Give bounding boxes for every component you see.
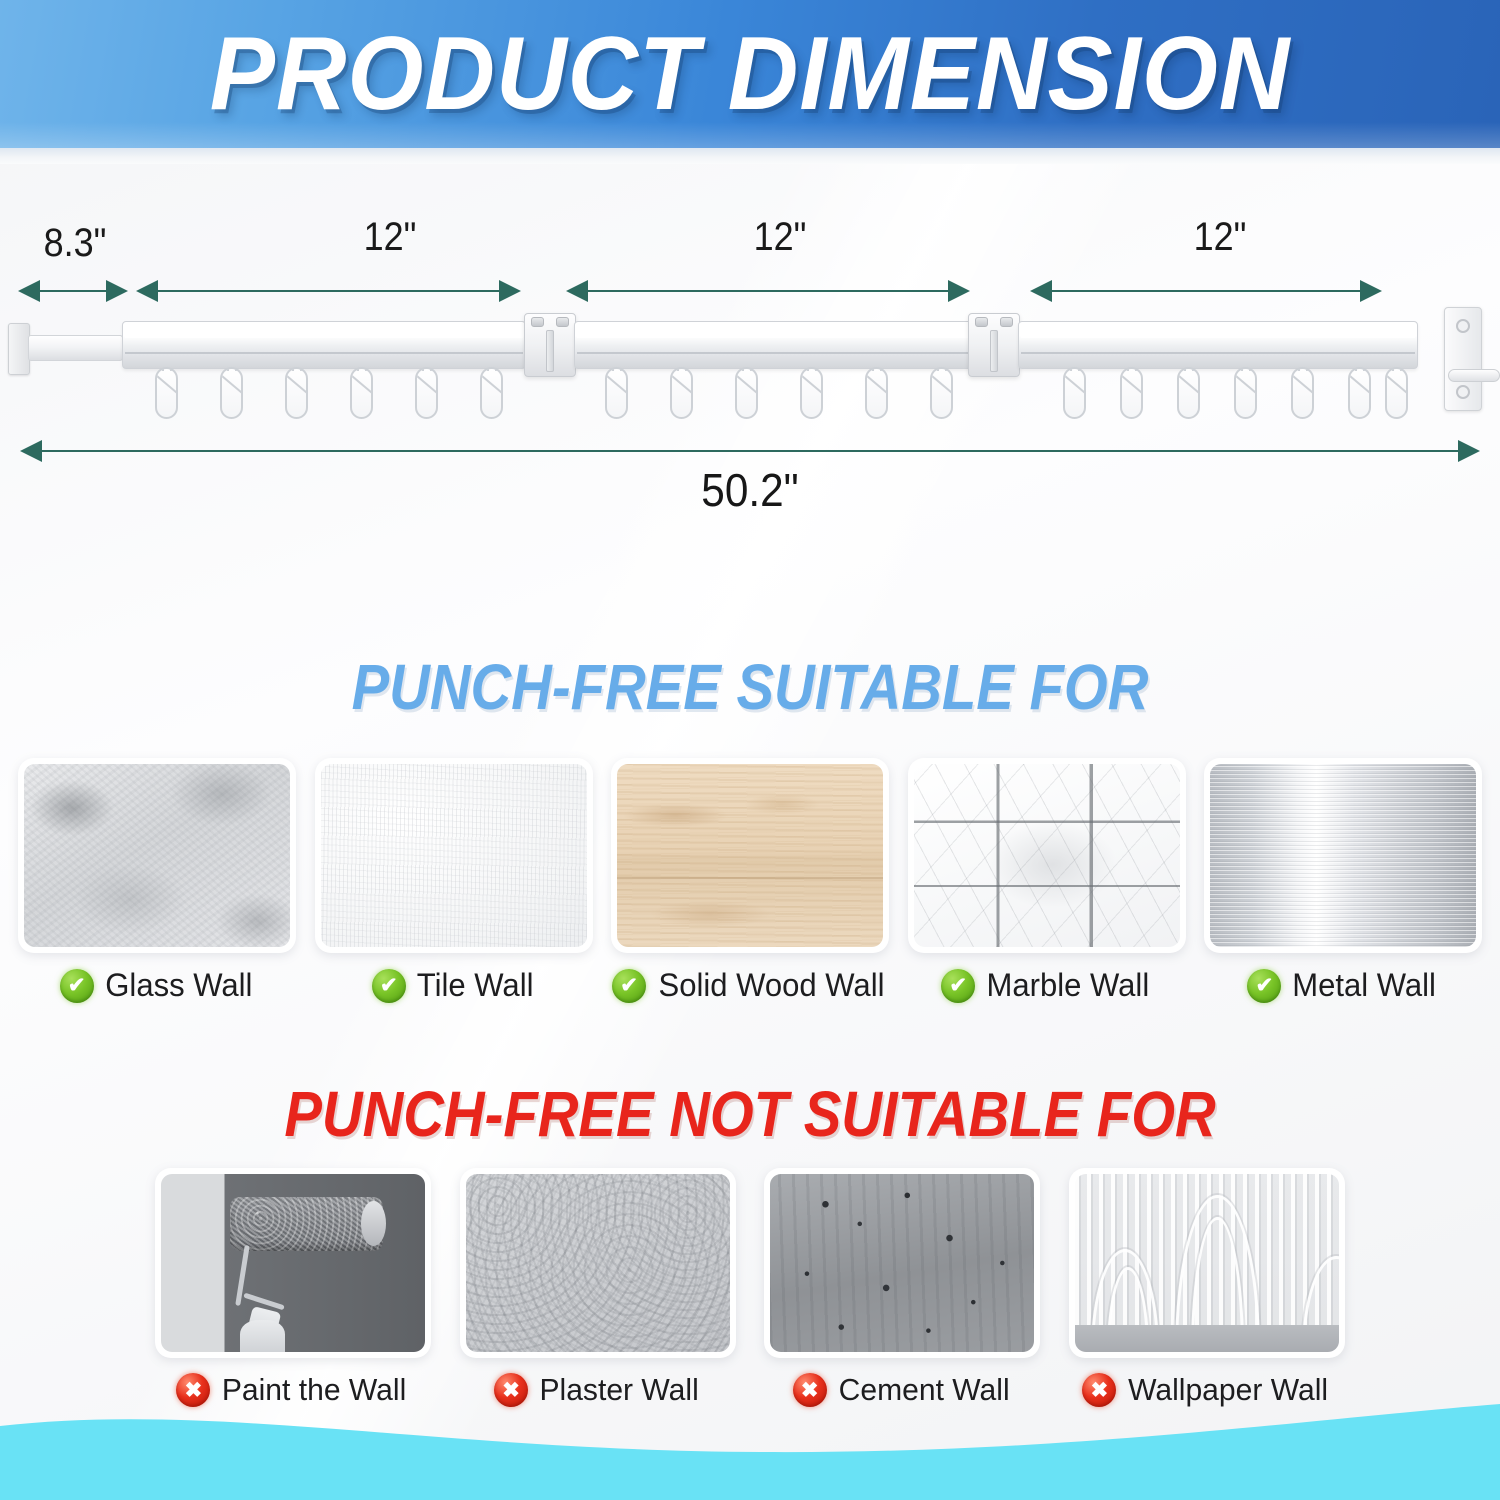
- material-card-wallpaper[interactable]: ✖ Wallpaper Wall: [1069, 1168, 1345, 1408]
- curtain-hook: [735, 367, 758, 419]
- connector-spine: [546, 330, 554, 372]
- material-label: Metal Wall: [1293, 967, 1437, 1004]
- screw-hole-icon: [1456, 385, 1470, 399]
- hook-stem: [1392, 367, 1402, 371]
- arrow-head-right-icon: [1360, 280, 1382, 302]
- curtain-hook: [800, 367, 823, 419]
- check-icon: ✔: [60, 969, 94, 1003]
- material-label: Tile Wall: [417, 967, 534, 1004]
- curtain-hook: [1234, 367, 1257, 419]
- hook-group-2: [605, 367, 965, 423]
- arrow-head-right-icon: [499, 280, 521, 302]
- hook-stem: [1070, 367, 1080, 371]
- curtain-hook: [1063, 367, 1086, 419]
- material-card-solid-wood[interactable]: ✔ Solid Wood Wall: [611, 758, 889, 1004]
- curtain-track-rail: [0, 305, 1500, 425]
- wallpaper-floor-strip: [1075, 1325, 1339, 1352]
- hook-stem: [1184, 367, 1194, 371]
- dimension-arrow-0: [18, 280, 128, 302]
- dimension-diagram: 8.3" 12" 12" 12": [0, 185, 1500, 545]
- screw-icon: [531, 317, 544, 327]
- swatch-paint: [155, 1168, 431, 1358]
- glass-texture: [24, 764, 290, 947]
- hook-stem: [227, 367, 237, 371]
- screw-icon: [556, 317, 569, 327]
- not-suitable-heading: PUNCH-FREE NOT SUITABLE FOR: [90, 1077, 1410, 1151]
- not-suitable-materials-row: ✖ Paint the Wall ✖ Plaster Wall ✖ Cement…: [155, 1168, 1345, 1408]
- hook-stem: [1241, 367, 1251, 371]
- hook-stem: [677, 367, 687, 371]
- material-card-plaster[interactable]: ✖ Plaster Wall: [460, 1168, 736, 1408]
- material-card-paint[interactable]: ✖ Paint the Wall: [155, 1168, 431, 1408]
- dimension-label-0: 8.3": [26, 221, 125, 266]
- caption-glass: ✔ Glass Wall: [60, 967, 255, 1004]
- material-label: Glass Wall: [105, 967, 252, 1004]
- hook-stem: [807, 367, 817, 371]
- arrow-line: [1042, 290, 1370, 292]
- hook-stem: [937, 367, 947, 371]
- dimension-arrow-1: [136, 280, 521, 302]
- rail-connector-2: [968, 313, 1020, 377]
- curtain-hook: [285, 367, 308, 419]
- total-dimension-label: 50.2": [60, 463, 1440, 517]
- total-dimension-arrow: [20, 440, 1480, 462]
- paint-roller-photo: [161, 1174, 425, 1352]
- screw-hole-icon: [1456, 319, 1470, 333]
- caption-metal: ✔ Metal Wall: [1247, 967, 1438, 1004]
- material-card-cement[interactable]: ✖ Cement Wall: [764, 1168, 1040, 1408]
- rail-connector-1: [524, 313, 576, 377]
- arrow-line: [578, 290, 958, 292]
- hook-group-1: [155, 367, 515, 423]
- rail-segment-1: [122, 321, 526, 369]
- wood-texture: [617, 764, 883, 947]
- arrow-head-right-icon: [1458, 440, 1480, 462]
- suitable-heading: PUNCH-FREE SUITABLE FOR: [90, 650, 1410, 724]
- material-card-tile[interactable]: ✔ Tile Wall: [315, 758, 593, 1004]
- dimension-label-3: 12": [1040, 215, 1400, 260]
- extension-arm: [28, 335, 123, 361]
- footer-wave: [0, 1380, 1500, 1500]
- hook-stem: [162, 367, 172, 371]
- arrow-line: [30, 290, 116, 292]
- hook-stem: [1355, 367, 1365, 371]
- caption-tile: ✔ Tile Wall: [372, 967, 535, 1004]
- material-label: Marble Wall: [987, 967, 1150, 1004]
- hook-stem: [292, 367, 302, 371]
- curtain-hook: [1385, 367, 1408, 419]
- swatch-wallpaper: [1069, 1168, 1345, 1358]
- infographic-page: PRODUCT DIMENSION 8.3" 12" 12" 12": [0, 0, 1500, 1500]
- material-card-metal[interactable]: ✔ Metal Wall: [1204, 758, 1482, 1004]
- swatch-tile: [315, 758, 593, 953]
- connector-spine: [990, 330, 998, 372]
- caption-marble: ✔ Marble Wall: [941, 967, 1152, 1004]
- arrow-head-right-icon: [106, 280, 128, 302]
- cement-texture: [770, 1174, 1034, 1352]
- curtain-hook: [930, 367, 953, 419]
- page-title: PRODUCT DIMENSION: [45, 10, 1455, 138]
- wave-shape-icon: [0, 1380, 1500, 1500]
- hook-stem: [487, 367, 497, 371]
- dimension-arrow-2: [566, 280, 970, 302]
- material-card-glass[interactable]: ✔ Glass Wall: [18, 758, 296, 1004]
- material-card-marble[interactable]: ✔ Marble Wall: [908, 758, 1186, 1004]
- arrow-line: [148, 290, 509, 292]
- dimension-label-1: 12": [219, 215, 561, 260]
- hook-stem: [872, 367, 882, 371]
- plaster-texture: [466, 1174, 730, 1352]
- roller-cap: [361, 1201, 385, 1246]
- curtain-hook: [415, 367, 438, 419]
- hook-stem: [357, 367, 367, 371]
- hook-stem: [742, 367, 752, 371]
- arrow-head-right-icon: [948, 280, 970, 302]
- rail-segment-2: [574, 321, 974, 369]
- metal-texture: [1210, 764, 1476, 947]
- end-finial: [1448, 369, 1500, 382]
- check-icon: ✔: [612, 969, 646, 1003]
- hook-stem: [422, 367, 432, 371]
- curtain-hook: [1177, 367, 1200, 419]
- suitable-materials-row: ✔ Glass Wall ✔ Tile Wall ✔ Solid Wood Wa…: [18, 758, 1482, 1004]
- swatch-plaster: [460, 1168, 736, 1358]
- curtain-hook: [670, 367, 693, 419]
- wallpaper-texture: [1075, 1174, 1339, 1352]
- dimension-arrow-3: [1030, 280, 1382, 302]
- hook-stem: [1127, 367, 1137, 371]
- marble-texture: [914, 764, 1180, 947]
- check-icon: ✔: [1247, 969, 1281, 1003]
- curtain-hook: [155, 367, 178, 419]
- paint-roller-icon: [230, 1197, 383, 1250]
- material-label: Solid Wood Wall: [658, 967, 884, 1004]
- tile-texture: [321, 764, 587, 947]
- check-icon: ✔: [941, 969, 975, 1003]
- swatch-cement: [764, 1168, 1040, 1358]
- header-underline: [0, 148, 1500, 164]
- right-wall-bracket: [1444, 307, 1482, 411]
- hook-group-3: [1063, 367, 1413, 423]
- curtain-hook: [1291, 367, 1314, 419]
- curtain-hook: [350, 367, 373, 419]
- curtain-hook: [1348, 367, 1371, 419]
- hook-stem: [612, 367, 622, 371]
- roller-handle-lower: [243, 1292, 285, 1310]
- swatch-solid-wood: [611, 758, 889, 953]
- curtain-hook: [220, 367, 243, 419]
- hand: [240, 1320, 285, 1352]
- dimension-label-2: 12": [600, 215, 960, 260]
- arrow-line: [32, 450, 1468, 452]
- header-banner: PRODUCT DIMENSION: [0, 0, 1500, 148]
- curtain-hook: [865, 367, 888, 419]
- curtain-hook: [1120, 367, 1143, 419]
- hook-stem: [1298, 367, 1308, 371]
- swatch-marble: [908, 758, 1186, 953]
- swatch-metal: [1204, 758, 1482, 953]
- check-icon: ✔: [372, 969, 406, 1003]
- screw-icon: [1000, 317, 1013, 327]
- curtain-hook: [480, 367, 503, 419]
- swatch-glass: [18, 758, 296, 953]
- curtain-hook: [605, 367, 628, 419]
- caption-solid-wood: ✔ Solid Wood Wall: [612, 967, 888, 1004]
- screw-icon: [975, 317, 988, 327]
- rail-segment-3: [1018, 321, 1418, 369]
- left-wall-plate: [8, 323, 30, 375]
